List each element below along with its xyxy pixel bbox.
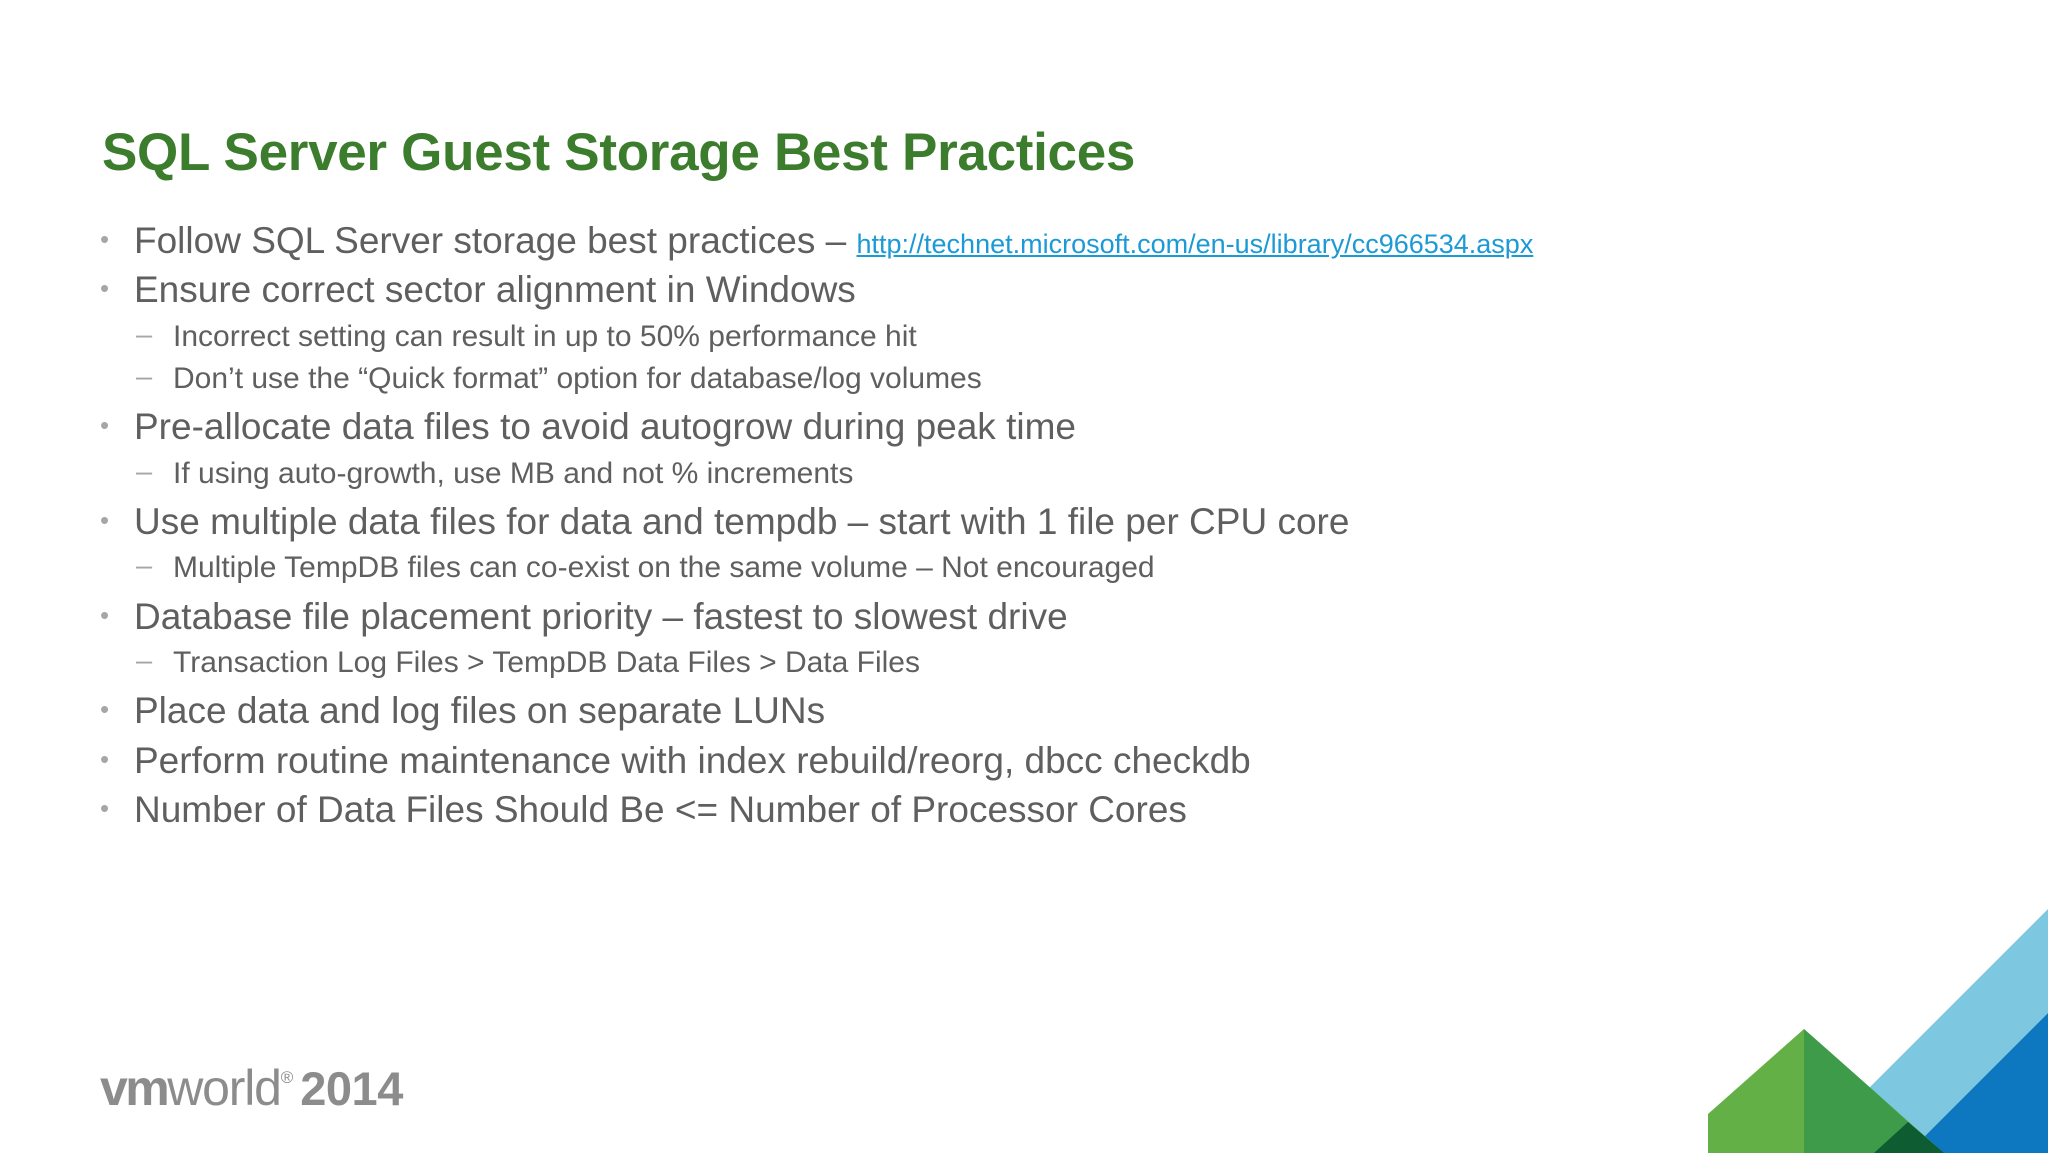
bullet-list: • Follow SQL Server storage best practic… — [92, 222, 1922, 846]
bullet-marker-dot: • — [92, 696, 134, 722]
logo-world-text: world — [167, 1060, 280, 1116]
bullet-marker-dot: • — [92, 602, 134, 628]
slide-canvas: SQL Server Guest Storage Best Practices … — [0, 0, 2048, 1153]
green-lightblue-overlap-shape — [1804, 1029, 1874, 1153]
logo-vm-text: vm — [100, 1060, 167, 1116]
green-triangle-shape — [1708, 1029, 1944, 1153]
sub-list-item: – Don’t use the “Quick format” option fo… — [92, 363, 1922, 394]
bullet-marker-dash: – — [136, 321, 173, 350]
bullet-marker-dash: – — [136, 552, 173, 581]
sub-list-item-label: Don’t use the “Quick format” option for … — [173, 363, 982, 394]
sub-list-item-label: Transaction Log Files > TempDB Data File… — [173, 647, 920, 678]
list-item: • Place data and log files on separate L… — [92, 692, 1922, 730]
bullet-marker-dot: • — [92, 795, 134, 821]
bullet-marker-dash: – — [136, 363, 173, 392]
vmworld-logo: vmworld®2014 — [100, 1063, 403, 1113]
corner-decoration-graphic — [1708, 893, 2048, 1153]
list-item: • Follow SQL Server storage best practic… — [92, 222, 1922, 260]
bullet-marker-dot: • — [92, 746, 134, 772]
list-item-label: Perform routine maintenance with index r… — [134, 742, 1251, 780]
list-item-label: Pre-allocate data files to avoid autogro… — [134, 408, 1076, 446]
list-item-label: Database file placement priority – faste… — [134, 598, 1068, 636]
list-item: • Pre-allocate data files to avoid autog… — [92, 408, 1922, 446]
green-darkblue-overlap-left-shape — [1874, 1122, 1944, 1153]
sub-list-item: – If using auto-growth, use MB and not %… — [92, 458, 1922, 489]
bullet-marker-dash: – — [136, 647, 173, 676]
list-item: • Database file placement priority – fas… — [92, 598, 1922, 636]
registered-trademark-icon: ® — [281, 1068, 294, 1087]
list-item: • Ensure correct sector alignment in Win… — [92, 271, 1922, 309]
sub-list-item-label: Multiple TempDB files can co-exist on th… — [173, 552, 1155, 583]
sub-list-item: – Multiple TempDB files can co-exist on … — [92, 552, 1922, 583]
sub-list-item-label: If using auto-growth, use MB and not % i… — [173, 458, 853, 489]
sub-list-item: – Incorrect setting can result in up to … — [92, 321, 1922, 352]
dark-blue-triangle-shape — [1908, 1013, 2048, 1153]
page-title: SQL Server Guest Storage Best Practices — [102, 126, 1135, 179]
technet-link[interactable]: http://technet.microsoft.com/en-us/libra… — [857, 229, 1534, 259]
list-item-label: Follow SQL Server storage best practices… — [134, 222, 1533, 260]
list-item: • Use multiple data files for data and t… — [92, 503, 1922, 541]
bullet-marker-dot: • — [92, 226, 134, 252]
sub-list-item-label: Incorrect setting can result in up to 50… — [173, 321, 917, 352]
green-lightblue-overlap-lower-shape — [1874, 1091, 1908, 1153]
bullet-marker-dot: • — [92, 275, 134, 301]
list-item: • Perform routine maintenance with index… — [92, 742, 1922, 780]
list-item-label: Ensure correct sector alignment in Windo… — [134, 271, 856, 309]
list-item-label: Place data and log files on separate LUN… — [134, 692, 825, 730]
light-blue-band-shape — [1804, 909, 2048, 1153]
list-item-label: Number of Data Files Should Be <= Number… — [134, 791, 1187, 829]
list-item: • Number of Data Files Should Be <= Numb… — [92, 791, 1922, 829]
bullet-marker-dash: – — [136, 458, 173, 487]
list-item-text: Follow SQL Server storage best practices… — [134, 220, 857, 261]
bullet-marker-dot: • — [92, 507, 134, 533]
list-item-label: Use multiple data files for data and tem… — [134, 503, 1349, 541]
logo-year-text: 2014 — [300, 1062, 403, 1115]
green-darkblue-overlap-shape — [1908, 1122, 1944, 1153]
bullet-marker-dot: • — [92, 412, 134, 438]
sub-list-item: – Transaction Log Files > TempDB Data Fi… — [92, 647, 1922, 678]
